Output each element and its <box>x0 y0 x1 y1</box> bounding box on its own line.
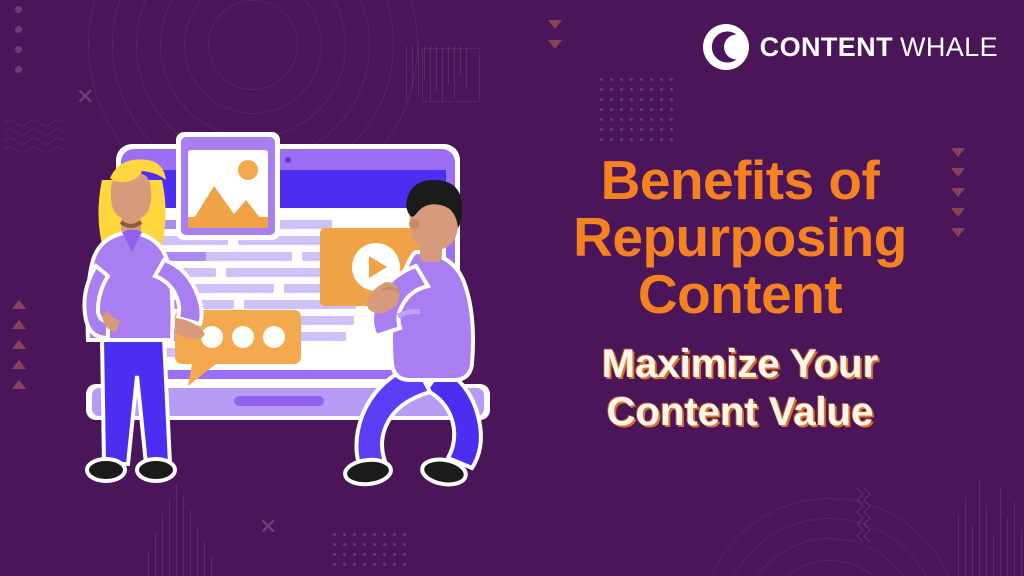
image-card <box>176 132 280 240</box>
triangle-column-up-left <box>12 300 26 400</box>
headline-line-2: Repurposing <box>556 209 924 266</box>
triangle-column-down-right <box>951 148 965 248</box>
dot-grid-top-right <box>600 78 673 141</box>
square-outline-inner-lines <box>406 46 467 102</box>
x-mark-bottom-center: ✕ <box>259 516 277 538</box>
headline-line-1: Benefits of <box>556 152 924 209</box>
square-outline-top-center <box>422 48 480 102</box>
brand-logo[interactable]: CONTENTWHALE <box>703 24 998 70</box>
banner-canvas: ✕ ✕ <box>0 0 1024 576</box>
x-mark-top-left: ✕ <box>76 86 94 108</box>
vertical-lines-bottom-right <box>958 466 1022 576</box>
page-title: Benefits of Repurposing Content <box>556 152 924 324</box>
zigzag-bottom-right <box>854 488 872 544</box>
headline-block: Benefits of Repurposing Content Maximize… <box>556 152 924 437</box>
content-whale-logo-icon <box>703 24 749 70</box>
dot-grid-bottom-center <box>333 533 406 566</box>
dot-column-top-left <box>15 6 22 86</box>
brand-word-content: CONTENT <box>760 32 893 62</box>
brand-word-whale: WHALE <box>900 32 998 62</box>
concentric-rings-bottom <box>700 498 960 576</box>
brand-wordmark: CONTENTWHALE <box>760 32 998 63</box>
triangle-pair-top-center <box>548 20 562 60</box>
wave-lines-left <box>4 118 72 152</box>
headline-line-3: Content <box>556 266 924 323</box>
hero-illustration <box>72 120 542 500</box>
subhead-line-1: Maximize Your <box>556 340 924 389</box>
subhead-line-2: Content Value <box>556 388 924 437</box>
page-subtitle: Maximize Your Content Value <box>556 340 924 438</box>
